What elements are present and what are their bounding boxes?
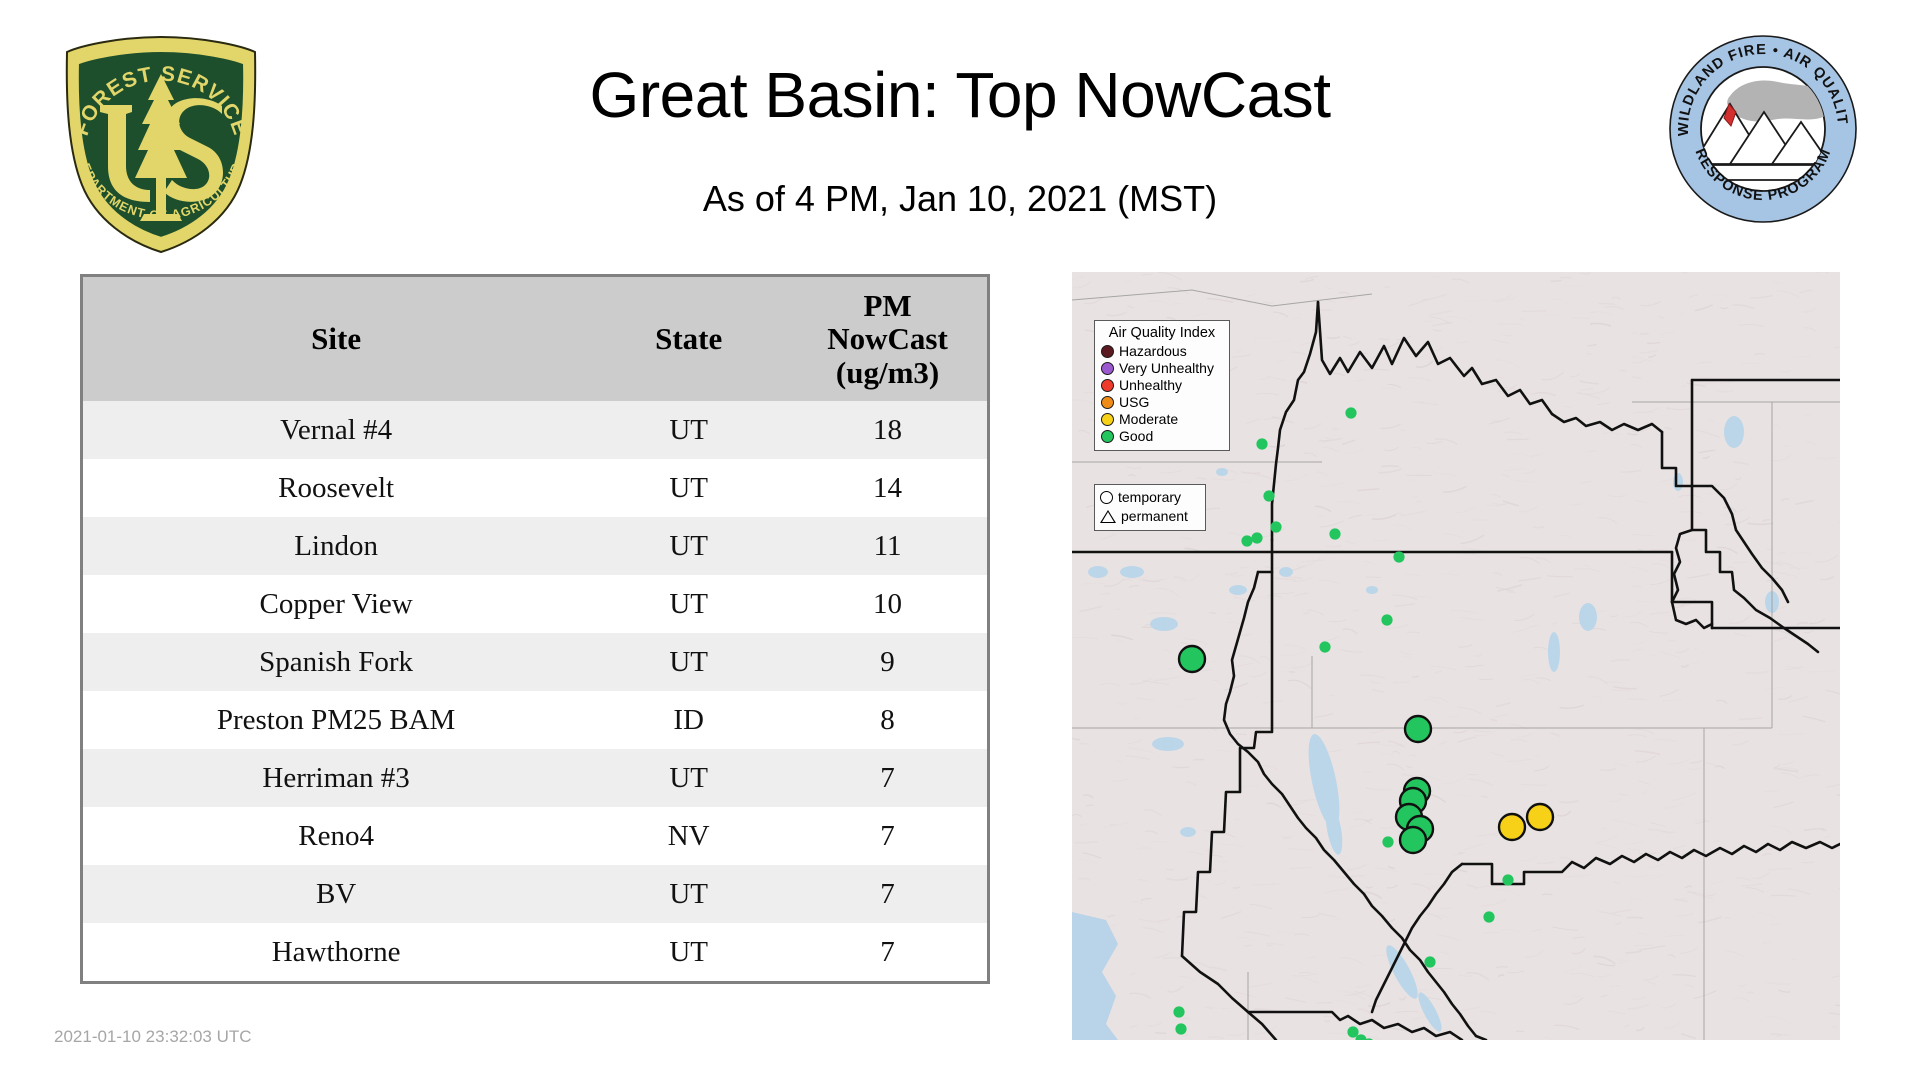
aqi-legend-label: Hazardous bbox=[1119, 343, 1187, 360]
site-name: Spanish Fork bbox=[83, 633, 589, 691]
table-row: Vernal #4UT18 bbox=[83, 401, 987, 459]
monitor-marker-small[interactable] bbox=[1270, 521, 1281, 532]
site-pm-nowcast-value: 18 bbox=[788, 401, 987, 459]
aqi-legend-label: Moderate bbox=[1119, 411, 1178, 428]
monitor-marker-large[interactable] bbox=[1499, 814, 1525, 840]
monitor-marker-large[interactable] bbox=[1179, 646, 1205, 672]
site-name: Herriman #3 bbox=[83, 749, 589, 807]
monitor-marker-small[interactable] bbox=[1502, 874, 1513, 885]
table-row: BVUT7 bbox=[83, 865, 987, 923]
column-header-pm-nowcast: PM NowCast (ug/m3) bbox=[788, 277, 987, 401]
aqi-legend-label: USG bbox=[1119, 394, 1149, 411]
great-basin-aqi-map[interactable]: Air Quality Index HazardousVery Unhealth… bbox=[1072, 272, 1840, 1040]
monitor-marker-small[interactable] bbox=[1251, 532, 1262, 543]
permanent-monitor-icon bbox=[1100, 510, 1116, 523]
site-state: UT bbox=[589, 575, 788, 633]
symbol-legend-row-temporary: temporary bbox=[1100, 488, 1200, 507]
site-state: UT bbox=[589, 749, 788, 807]
aqi-category-swatch-icon bbox=[1101, 396, 1114, 409]
top-nowcast-table: Site State PM NowCast (ug/m3) Vernal #4U… bbox=[83, 277, 987, 981]
site-state: ID bbox=[589, 691, 788, 749]
table-row: Preston PM25 BAMID8 bbox=[83, 691, 987, 749]
symbol-legend: temporary permanent bbox=[1094, 484, 1206, 531]
table-row: Copper ViewUT10 bbox=[83, 575, 987, 633]
aqi-category-swatch-icon bbox=[1101, 379, 1114, 392]
table-row: HawthorneUT7 bbox=[83, 923, 987, 981]
table-row: Spanish ForkUT9 bbox=[83, 633, 987, 691]
site-state: UT bbox=[589, 401, 788, 459]
site-name: Vernal #4 bbox=[83, 401, 589, 459]
monitor-marker-small[interactable] bbox=[1345, 407, 1356, 418]
column-header-state: State bbox=[589, 277, 788, 401]
site-pm-nowcast-value: 9 bbox=[788, 633, 987, 691]
site-pm-nowcast-value: 8 bbox=[788, 691, 987, 749]
monitor-marker-small[interactable] bbox=[1256, 438, 1267, 449]
table-row: RooseveltUT14 bbox=[83, 459, 987, 517]
monitor-marker-small[interactable] bbox=[1329, 528, 1340, 539]
symbol-legend-label-temporary: temporary bbox=[1118, 488, 1181, 507]
page-title: Great Basin: Top NowCast bbox=[300, 58, 1620, 132]
aqi-legend-row: Moderate bbox=[1101, 411, 1223, 428]
table-header-row: Site State PM NowCast (ug/m3) bbox=[83, 277, 987, 401]
site-pm-nowcast-value: 10 bbox=[788, 575, 987, 633]
site-state: UT bbox=[589, 633, 788, 691]
aqi-legend-row: Unhealthy bbox=[1101, 377, 1223, 394]
aqi-legend: Air Quality Index HazardousVery Unhealth… bbox=[1094, 320, 1230, 451]
site-state: UT bbox=[589, 517, 788, 575]
aqi-category-swatch-icon bbox=[1101, 362, 1114, 375]
site-state: NV bbox=[589, 807, 788, 865]
monitor-marker-small[interactable] bbox=[1382, 836, 1393, 847]
usfs-shield-logo: FOREST SERVICE DEPARTMENT OF AGRICULTURE bbox=[56, 30, 266, 256]
aqi-legend-row: USG bbox=[1101, 394, 1223, 411]
monitor-marker-small[interactable] bbox=[1424, 956, 1435, 967]
site-name: Lindon bbox=[83, 517, 589, 575]
site-state: UT bbox=[589, 459, 788, 517]
monitor-marker-small[interactable] bbox=[1483, 911, 1494, 922]
table-row: Reno4NV7 bbox=[83, 807, 987, 865]
site-pm-nowcast-value: 7 bbox=[788, 865, 987, 923]
aqi-category-swatch-icon bbox=[1101, 413, 1114, 426]
aqi-category-swatch-icon bbox=[1101, 430, 1114, 443]
symbol-legend-row-permanent: permanent bbox=[1100, 507, 1200, 526]
aqi-legend-label: Very Unhealthy bbox=[1119, 360, 1214, 377]
site-pm-nowcast-value: 14 bbox=[788, 459, 987, 517]
monitor-marker-small[interactable] bbox=[1173, 1006, 1184, 1017]
monitor-marker-large[interactable] bbox=[1405, 716, 1431, 742]
table-row: Herriman #3UT7 bbox=[83, 749, 987, 807]
table-row: LindonUT11 bbox=[83, 517, 987, 575]
aqi-legend-label: Unhealthy bbox=[1119, 377, 1182, 394]
aqi-legend-rows: HazardousVery UnhealthyUnhealthyUSGModer… bbox=[1101, 343, 1223, 445]
site-state: UT bbox=[589, 923, 788, 981]
monitor-marker-large[interactable] bbox=[1527, 804, 1553, 830]
table-header: Site State PM NowCast (ug/m3) bbox=[83, 277, 987, 401]
site-pm-nowcast-value: 7 bbox=[788, 807, 987, 865]
site-name: Copper View bbox=[83, 575, 589, 633]
aqi-legend-row: Good bbox=[1101, 428, 1223, 445]
site-pm-nowcast-value: 7 bbox=[788, 923, 987, 981]
monitor-marker-large[interactable] bbox=[1400, 827, 1426, 853]
site-name: Roosevelt bbox=[83, 459, 589, 517]
site-name: Reno4 bbox=[83, 807, 589, 865]
site-pm-nowcast-value: 11 bbox=[788, 517, 987, 575]
table-body: Vernal #4UT18RooseveltUT14LindonUT11Copp… bbox=[83, 401, 987, 981]
wildland-fire-air-quality-response-program-logo: WILDLAND FIRE • AIR QUALITY RESPONSE PRO… bbox=[1668, 34, 1858, 224]
site-name: BV bbox=[83, 865, 589, 923]
aqi-legend-label: Good bbox=[1119, 428, 1153, 445]
monitor-marker-small[interactable] bbox=[1175, 1023, 1186, 1034]
site-pm-nowcast-value: 7 bbox=[788, 749, 987, 807]
aqi-category-swatch-icon bbox=[1101, 345, 1114, 358]
aqi-legend-title: Air Quality Index bbox=[1101, 325, 1223, 341]
symbol-legend-label-permanent: permanent bbox=[1121, 507, 1188, 526]
column-header-pm-line3: (ug/m3) bbox=[792, 356, 983, 389]
monitor-marker-small[interactable] bbox=[1381, 614, 1392, 625]
column-header-pm-line2: NowCast bbox=[792, 322, 983, 355]
page-subtitle: As of 4 PM, Jan 10, 2021 (MST) bbox=[300, 178, 1620, 220]
temporary-monitor-icon bbox=[1100, 491, 1113, 504]
site-name: Preston PM25 BAM bbox=[83, 691, 589, 749]
monitor-marker-small[interactable] bbox=[1263, 490, 1274, 501]
site-name: Hawthorne bbox=[83, 923, 589, 981]
top-nowcast-table-container: Site State PM NowCast (ug/m3) Vernal #4U… bbox=[80, 274, 990, 984]
monitor-marker-small[interactable] bbox=[1393, 551, 1404, 562]
monitor-marker-small[interactable] bbox=[1347, 1026, 1358, 1037]
monitor-marker-small[interactable] bbox=[1319, 641, 1330, 652]
aqi-legend-row: Hazardous bbox=[1101, 343, 1223, 360]
site-state: UT bbox=[589, 865, 788, 923]
monitor-marker-small[interactable] bbox=[1241, 535, 1252, 546]
column-header-site: Site bbox=[83, 277, 589, 401]
column-header-pm-line1: PM bbox=[792, 289, 983, 322]
aqi-legend-row: Very Unhealthy bbox=[1101, 360, 1223, 377]
generated-timestamp: 2021-01-10 23:32:03 UTC bbox=[54, 1027, 252, 1047]
